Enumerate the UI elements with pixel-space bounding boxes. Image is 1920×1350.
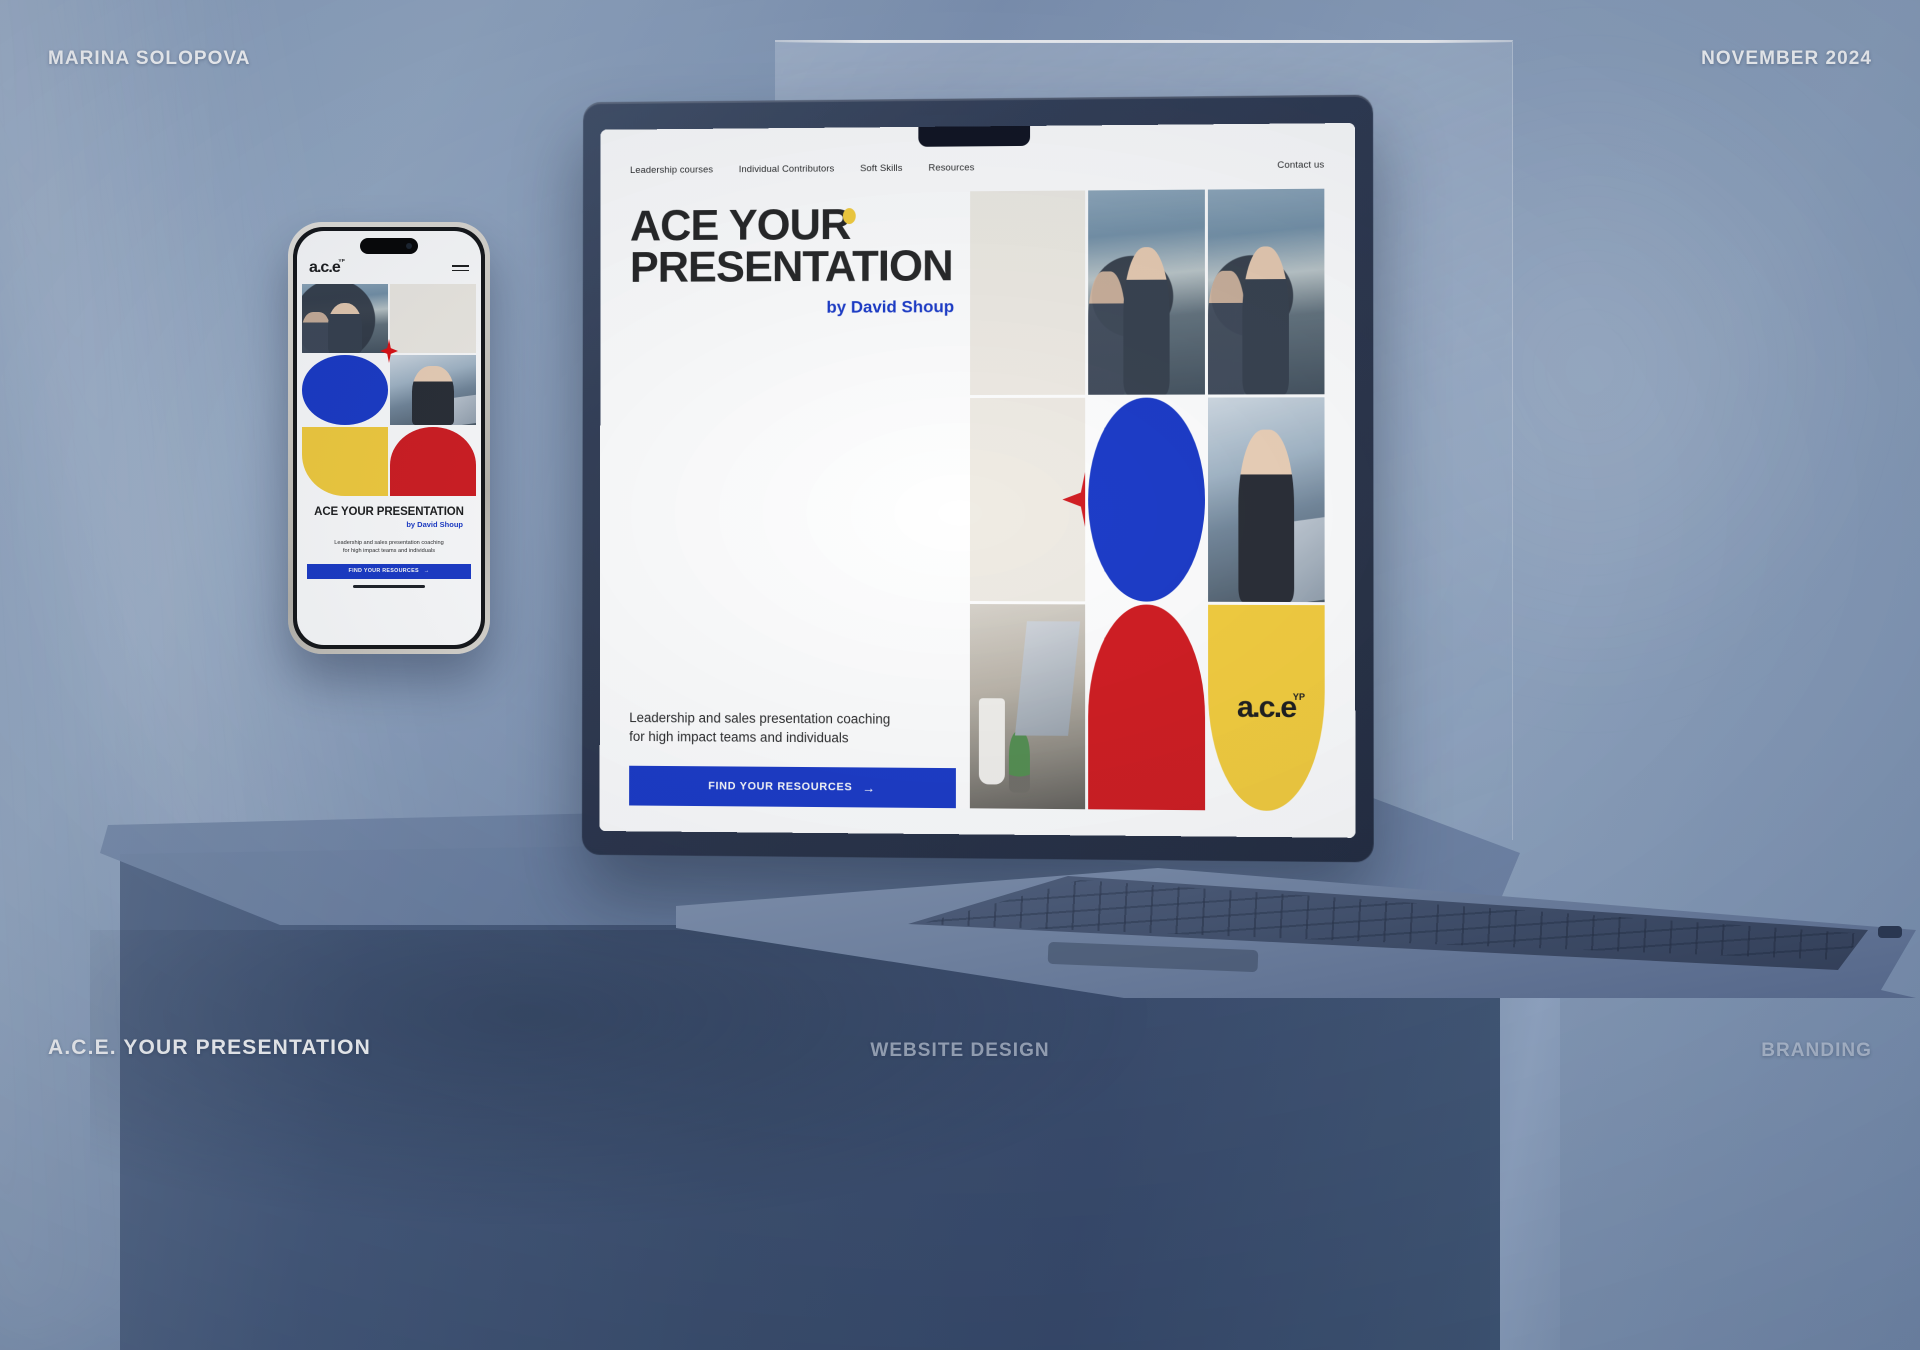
mobile-logo-superscript: YP	[338, 259, 344, 264]
mobile-hero-text: ACE YOUR PRESENTATION by David Shoup Lea…	[297, 496, 481, 556]
laptop-screen: Leadership courses Individual Contributo…	[600, 123, 1356, 838]
mobile-blue-circle-shape	[302, 355, 388, 424]
mobile-photo-men-meeting	[302, 284, 388, 353]
mobile-photo-woman-laptop	[390, 355, 476, 424]
collage-circle-blue	[1088, 397, 1204, 602]
glass-panel-top-edge	[775, 40, 1515, 43]
mobile-yellow-arch-shape	[302, 427, 388, 496]
hero-headline: ACE YOUR PRESENTATION	[630, 203, 956, 289]
hamburger-icon[interactable]	[452, 265, 469, 271]
mobile-arrow-right-icon: →	[424, 568, 430, 574]
mobile-red-arch-shape	[390, 427, 476, 496]
dynamic-island	[360, 238, 418, 254]
nav-item-resources[interactable]: Resources	[928, 162, 974, 173]
blue-circle-shape	[1088, 397, 1204, 602]
cta-label: FIND YOUR RESOURCES	[708, 780, 852, 793]
mobile-arch-red	[390, 427, 476, 496]
collage-photo-woman-laptop	[1208, 397, 1325, 603]
nav-item-soft-skills[interactable]: Soft Skills	[860, 163, 902, 174]
hamburger-bar-2	[452, 270, 469, 272]
mobile-collage-grid	[302, 284, 476, 496]
find-your-resources-button[interactable]: FIND YOUR RESOURCES →	[629, 766, 956, 808]
collage-photo-men-meeting	[1088, 190, 1204, 395]
mobile-cta-label: FIND YOUR RESOURCES	[349, 568, 419, 574]
laptop-mockup: Leadership courses Individual Contributo…	[578, 98, 1370, 858]
plant-decor	[1009, 731, 1030, 792]
hamburger-bar-1	[452, 265, 469, 267]
navbar-spacer	[1000, 166, 1251, 168]
mobile-arch-yellow	[302, 427, 388, 496]
arrow-right-icon: →	[862, 781, 876, 794]
author-label: MARINA SOLOPOVA	[48, 48, 251, 70]
headline-accent-dot	[843, 208, 856, 224]
collage-arch-yellow-logo: a.c.eYP	[1208, 605, 1325, 811]
collage-tile-cream-top-left	[970, 190, 1085, 394]
desktop-navbar: Leadership courses Individual Contributo…	[630, 160, 1324, 176]
mobile-logo-text: a.c.e	[309, 259, 340, 276]
category-website-design-label: WEBSITE DESIGN	[870, 1040, 1049, 1062]
phone-screen: a.c.eYP	[297, 231, 481, 645]
category-branding-label: BRANDING	[1761, 1040, 1872, 1062]
mobile-hero-title: ACE YOUR PRESENTATION	[307, 506, 471, 518]
collage-photo-desk-meeting	[970, 604, 1086, 809]
website-desktop-view: Leadership courses Individual Contributo…	[600, 123, 1356, 838]
mobile-hero-byline: by David Shoup	[307, 520, 471, 529]
collage-arch-red	[1088, 605, 1204, 811]
nav-contact-us-link[interactable]: Contact us	[1277, 160, 1324, 171]
home-indicator	[353, 585, 425, 588]
collage-tile-cream-mid-left	[970, 397, 1086, 601]
phone-mockup: a.c.eYP	[288, 222, 490, 654]
mobile-tile-cream-top-right	[390, 284, 476, 353]
desktop-hero-section: ACE YOUR PRESENTATION by David Shoup Lea…	[629, 189, 1325, 812]
phone-bezel: a.c.eYP	[293, 227, 485, 649]
hero-left-column: ACE YOUR PRESENTATION by David Shoup Lea…	[629, 191, 956, 808]
nav-item-leadership-courses[interactable]: Leadership courses	[630, 164, 713, 176]
hero-collage-grid: a.c.eYP	[970, 189, 1325, 812]
ace-logo-text: a.c.e	[1237, 691, 1296, 725]
mobile-ace-logo[interactable]: a.c.eYP	[309, 259, 340, 277]
collage-photo-audience	[1208, 189, 1325, 394]
project-title-label: A.C.E. YOUR PRESENTATION	[48, 1036, 371, 1060]
mockup-canvas: Leadership courses Individual Contributo…	[0, 0, 1920, 1350]
date-label: NOVEMBER 2024	[1701, 48, 1872, 70]
ace-brand-logo: a.c.eYP	[1237, 691, 1296, 726]
sparkle-icon	[1062, 470, 1085, 528]
hero-byline: by David Shoup	[630, 298, 956, 319]
laptop-camera-notch	[918, 126, 1030, 147]
nav-item-individual-contributors[interactable]: Individual Contributors	[739, 163, 835, 175]
laptop-side-port	[1878, 926, 1902, 938]
red-arch-shape	[1088, 605, 1204, 811]
mobile-circle-blue	[302, 355, 388, 424]
mobile-hero-subcopy: Leadership and sales presentation coachi…	[307, 539, 471, 556]
hero-subcopy: Leadership and sales presentation coachi…	[629, 708, 956, 748]
ace-logo-superscript: YP	[1293, 692, 1305, 702]
hero-left-bottom: Leadership and sales presentation coachi…	[629, 708, 956, 808]
mobile-find-your-resources-button[interactable]: FIND YOUR RESOURCES →	[307, 564, 471, 579]
